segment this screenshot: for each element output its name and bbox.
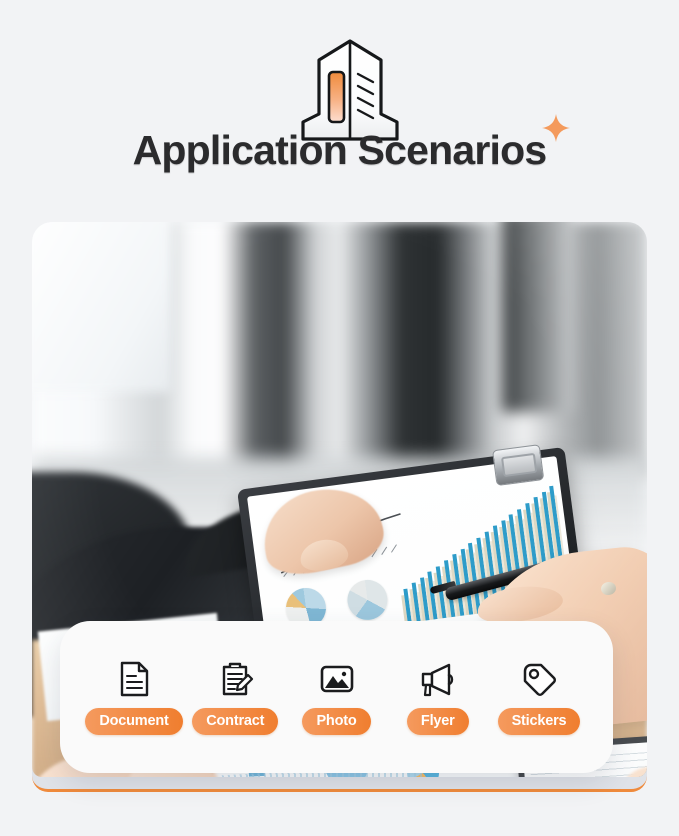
category-item-stickers[interactable]: Stickers	[489, 659, 589, 736]
page-title-row: Application Scenarios	[0, 128, 679, 173]
clipboard-pencil-icon	[215, 659, 255, 699]
category-list: Document Contract	[60, 621, 613, 773]
document-icon	[114, 659, 154, 699]
image-icon	[317, 659, 357, 699]
page-title: Application Scenarios	[133, 127, 547, 173]
category-chip-stickers[interactable]: Stickers	[498, 708, 581, 736]
photo-clipboard-clip	[492, 444, 544, 486]
sparkle-icon	[540, 112, 572, 144]
photo-background-window	[32, 222, 172, 392]
application-categories-card: Document Contract	[60, 621, 613, 773]
category-item-photo[interactable]: Photo	[287, 659, 387, 736]
category-item-document[interactable]: Document	[84, 659, 184, 736]
category-chip-contract[interactable]: Contract	[192, 708, 278, 736]
tag-icon	[519, 659, 559, 699]
category-item-flyer[interactable]: Flyer	[388, 659, 488, 736]
category-chip-photo[interactable]: Photo	[302, 708, 370, 736]
building-icon	[295, 36, 405, 141]
category-chip-document[interactable]: Document	[85, 708, 182, 736]
page-header: Application Scenarios	[0, 0, 679, 210]
photo-report-pie-2	[345, 577, 390, 622]
category-item-contract[interactable]: Contract	[185, 659, 285, 736]
category-chip-flyer[interactable]: Flyer	[407, 708, 469, 736]
megaphone-icon	[418, 659, 458, 699]
photo-background-pillar	[502, 222, 572, 412]
